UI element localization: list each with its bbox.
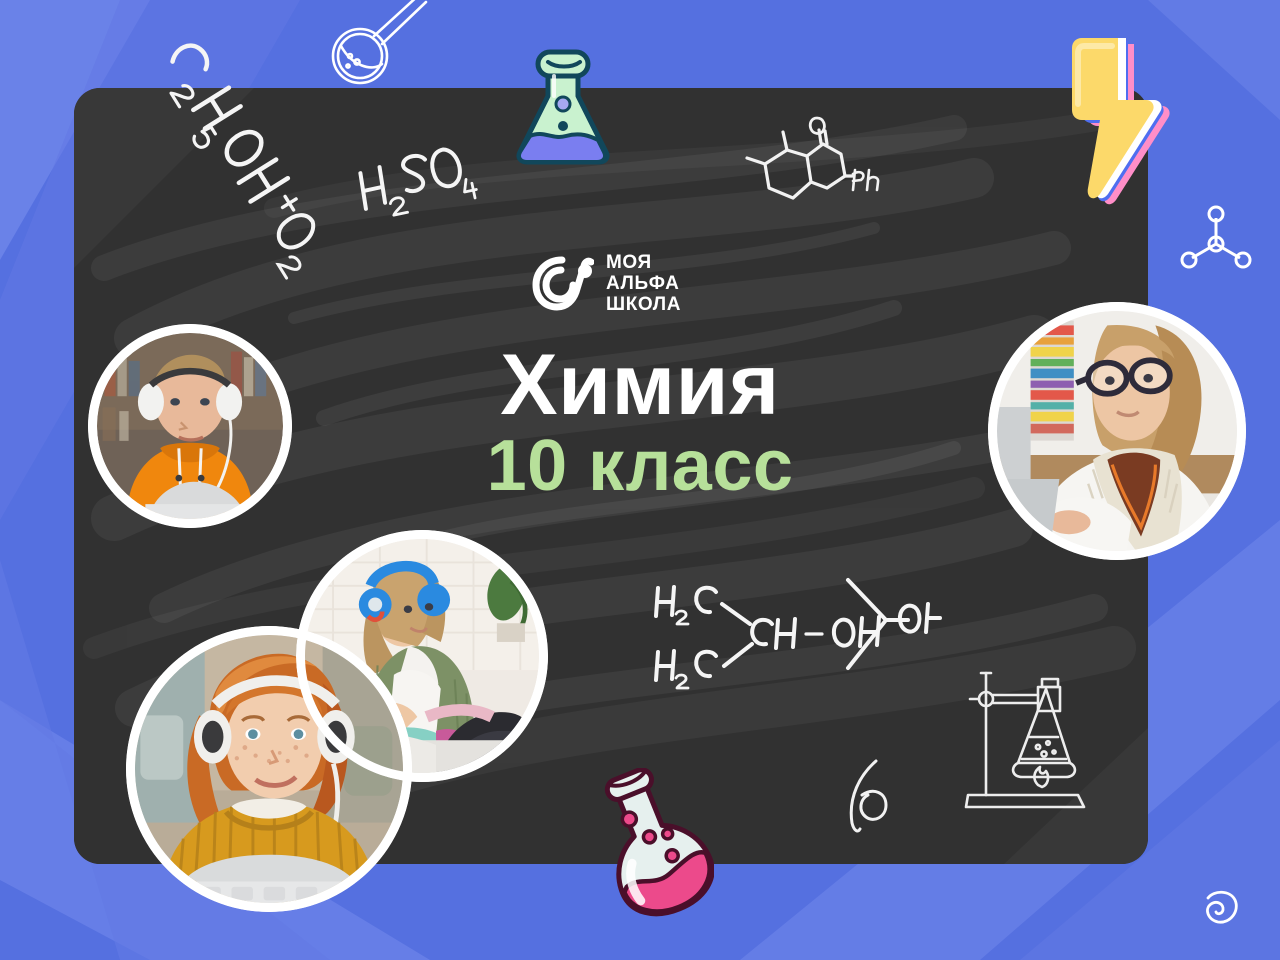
brand-logo-text: МОЯ АЛЬФА ШКОЛА <box>606 252 718 315</box>
bunsen-burner-drawing <box>960 655 1090 820</box>
formula-ethanol-combustion <box>96 44 326 274</box>
spiral-logo-icon <box>1196 884 1242 930</box>
erlenmeyer-flask-mint-icon <box>508 44 618 166</box>
lightning-bolt-icon <box>1060 34 1180 206</box>
flask-outline-icon <box>324 0 428 86</box>
photo-image <box>97 333 283 519</box>
student-photo-boy-orange-hoodie <box>88 324 292 528</box>
round-flask-pink-icon <box>592 768 714 918</box>
alpha-swirl-icon <box>532 254 594 312</box>
student-photo-girl-glasses <box>988 302 1246 560</box>
brand-logo: МОЯ АЛЬФА ШКОЛА <box>532 252 718 314</box>
poster-canvas: МОЯ АЛЬФА ШКОЛА Химия 10 класс <box>0 0 1280 960</box>
formula-bicyclic-ketone <box>735 112 895 217</box>
molecule-icon <box>1172 198 1260 290</box>
photo-image <box>997 311 1237 551</box>
formula-sulfuric-acid <box>355 140 475 220</box>
student-photo-girl-red-hair <box>126 626 412 912</box>
formula-isopropanol <box>650 580 940 690</box>
photo-image <box>135 635 403 903</box>
formula-sigma-glyph <box>840 755 900 835</box>
